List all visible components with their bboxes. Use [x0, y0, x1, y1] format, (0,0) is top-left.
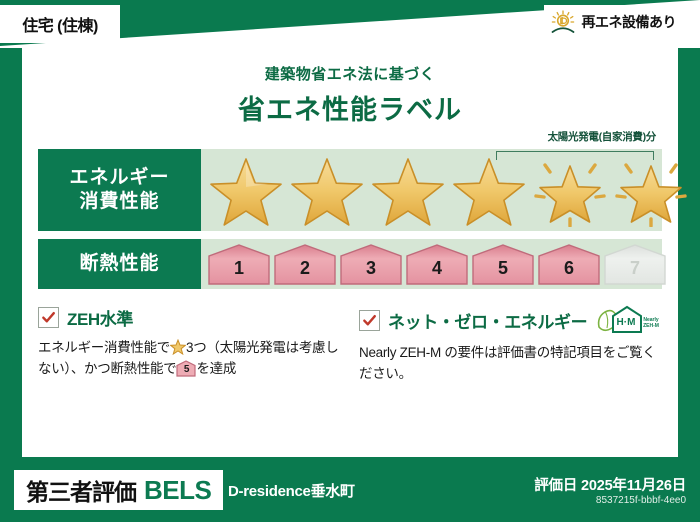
insulation-performance-row: 断熱性能 — [38, 239, 662, 289]
energy-label-line2: 消費性能 — [79, 190, 159, 214]
renewable-badge-label: 再エネ設備あり — [582, 12, 677, 32]
star-icon-1 — [207, 153, 285, 227]
svg-text:H·M: H·M — [617, 317, 636, 328]
panel-nze-text: Nearly ZEH-M の要件は評価書の特記項目をご覧ください。 — [359, 343, 662, 385]
bels-energy-label: 住宅 (住棟) 再エネ設備あり 建築物省エネ法に基 — [0, 0, 700, 522]
house-icon-2: 2 — [273, 243, 337, 285]
zeh-text-part3: を達成 — [196, 361, 236, 376]
house-icon-3: 3 — [339, 243, 403, 285]
inline-star-icon — [170, 339, 186, 355]
housing-type-tab: 住宅 (住棟) — [0, 5, 120, 43]
panel-zeh-title: ZEH水準 — [67, 305, 133, 330]
house-level-number: 7 — [603, 243, 667, 285]
inline-house-level: 5 — [176, 360, 196, 377]
house-rating: 1 2 3 — [207, 242, 658, 286]
info-panels: ZEH水準 エネルギー消費性能で3つ（太陽光発電は考慮しない）、かつ断熱性能で5… — [22, 305, 678, 385]
star-rating — [207, 149, 658, 231]
sun-renewable-icon — [550, 10, 576, 34]
house-icon-7-inactive: 7 — [603, 243, 667, 285]
panel-nze-title: ネット・ゼロ・エネルギー — [388, 308, 587, 333]
energy-performance-row: エネルギー 消費性能 太陽光発電(自家消費)分 — [38, 149, 662, 231]
star-icon-3 — [369, 153, 447, 227]
evaluation-id: 8537215f-bbbf-4ee0 — [596, 495, 686, 506]
footer-bar: 第三者評価 BELS D-residence垂水町 評価日 2025年11月26… — [0, 460, 700, 522]
building-name: D-residence垂水町 — [228, 480, 355, 501]
check-icon — [41, 310, 56, 325]
house-icon-1: 1 — [207, 243, 271, 285]
zeh-m-logo-icon: H·M Nearly ZEH-M — [596, 305, 662, 335]
house-level-number: 2 — [273, 243, 337, 285]
house-icon-5: 5 — [471, 243, 535, 285]
label-subtitle: 建築物省エネ法に基づく — [22, 63, 678, 84]
performance-rows: エネルギー 消費性能 太陽光発電(自家消費)分 — [22, 149, 678, 289]
star-icon-6-solar — [612, 153, 690, 227]
solar-portion-note: 太陽光発電(自家消費)分 — [548, 129, 656, 144]
energy-label-line1: エネルギー — [69, 166, 169, 190]
checkbox-zeh-standard[interactable] — [38, 307, 59, 328]
inline-house-icon: 5 — [176, 360, 196, 377]
insulation-rating-area: 1 2 3 — [201, 239, 662, 289]
check-icon — [362, 313, 377, 328]
panel-zeh-standard: ZEH水準 エネルギー消費性能で3つ（太陽光発電は考慮しない）、かつ断熱性能で5… — [38, 305, 341, 385]
star-icon-4 — [450, 153, 528, 227]
house-icon-6: 6 — [537, 243, 601, 285]
star-icon-5-solar — [531, 153, 609, 227]
label-card: 建築物省エネ法に基づく 省エネ性能ラベル エネルギー 消費性能 太陽光発電(自家… — [22, 45, 678, 457]
house-level-number: 3 — [339, 243, 403, 285]
bels-third-party-label: 第三者評価 — [26, 473, 136, 507]
renewable-equipment-badge: 再エネ設備あり — [544, 5, 687, 38]
page-title: 省エネ性能ラベル — [22, 88, 678, 127]
insulation-label-text: 断熱性能 — [79, 252, 159, 276]
bels-logo-text: BELS — [144, 475, 211, 506]
star-icon-2 — [288, 153, 366, 227]
zeh-text-part1: エネルギー消費性能で — [38, 340, 170, 355]
house-level-number: 1 — [207, 243, 271, 285]
insulation-performance-label: 断熱性能 — [38, 239, 201, 289]
energy-performance-label: エネルギー 消費性能 — [38, 149, 201, 231]
energy-rating-area: 太陽光発電(自家消費)分 — [201, 149, 662, 231]
zeh-star-count: 3つ — [186, 340, 206, 355]
panel-net-zero-energy: ネット・ゼロ・エネルギー H·M Nearly ZEH-M Nearly ZEH… — [359, 305, 662, 385]
checkbox-net-zero-energy[interactable] — [359, 310, 380, 331]
house-level-number: 4 — [405, 243, 469, 285]
evaluation-date: 評価日 2025年11月26日 — [534, 474, 686, 495]
svg-text:ZEH-M: ZEH-M — [643, 323, 659, 329]
house-level-number: 6 — [537, 243, 601, 285]
house-icon-4: 4 — [405, 243, 469, 285]
house-level-number: 5 — [471, 243, 535, 285]
bels-badge: 第三者評価 BELS — [14, 470, 223, 510]
panel-zeh-text: エネルギー消費性能で3つ（太陽光発電は考慮しない）、かつ断熱性能で5を達成 — [38, 338, 341, 380]
panel-zeh-header: ZEH水準 — [38, 305, 341, 330]
panel-nze-header: ネット・ゼロ・エネルギー H·M Nearly ZEH-M — [359, 305, 662, 335]
housing-type-label: 住宅 (住棟) — [22, 12, 98, 36]
